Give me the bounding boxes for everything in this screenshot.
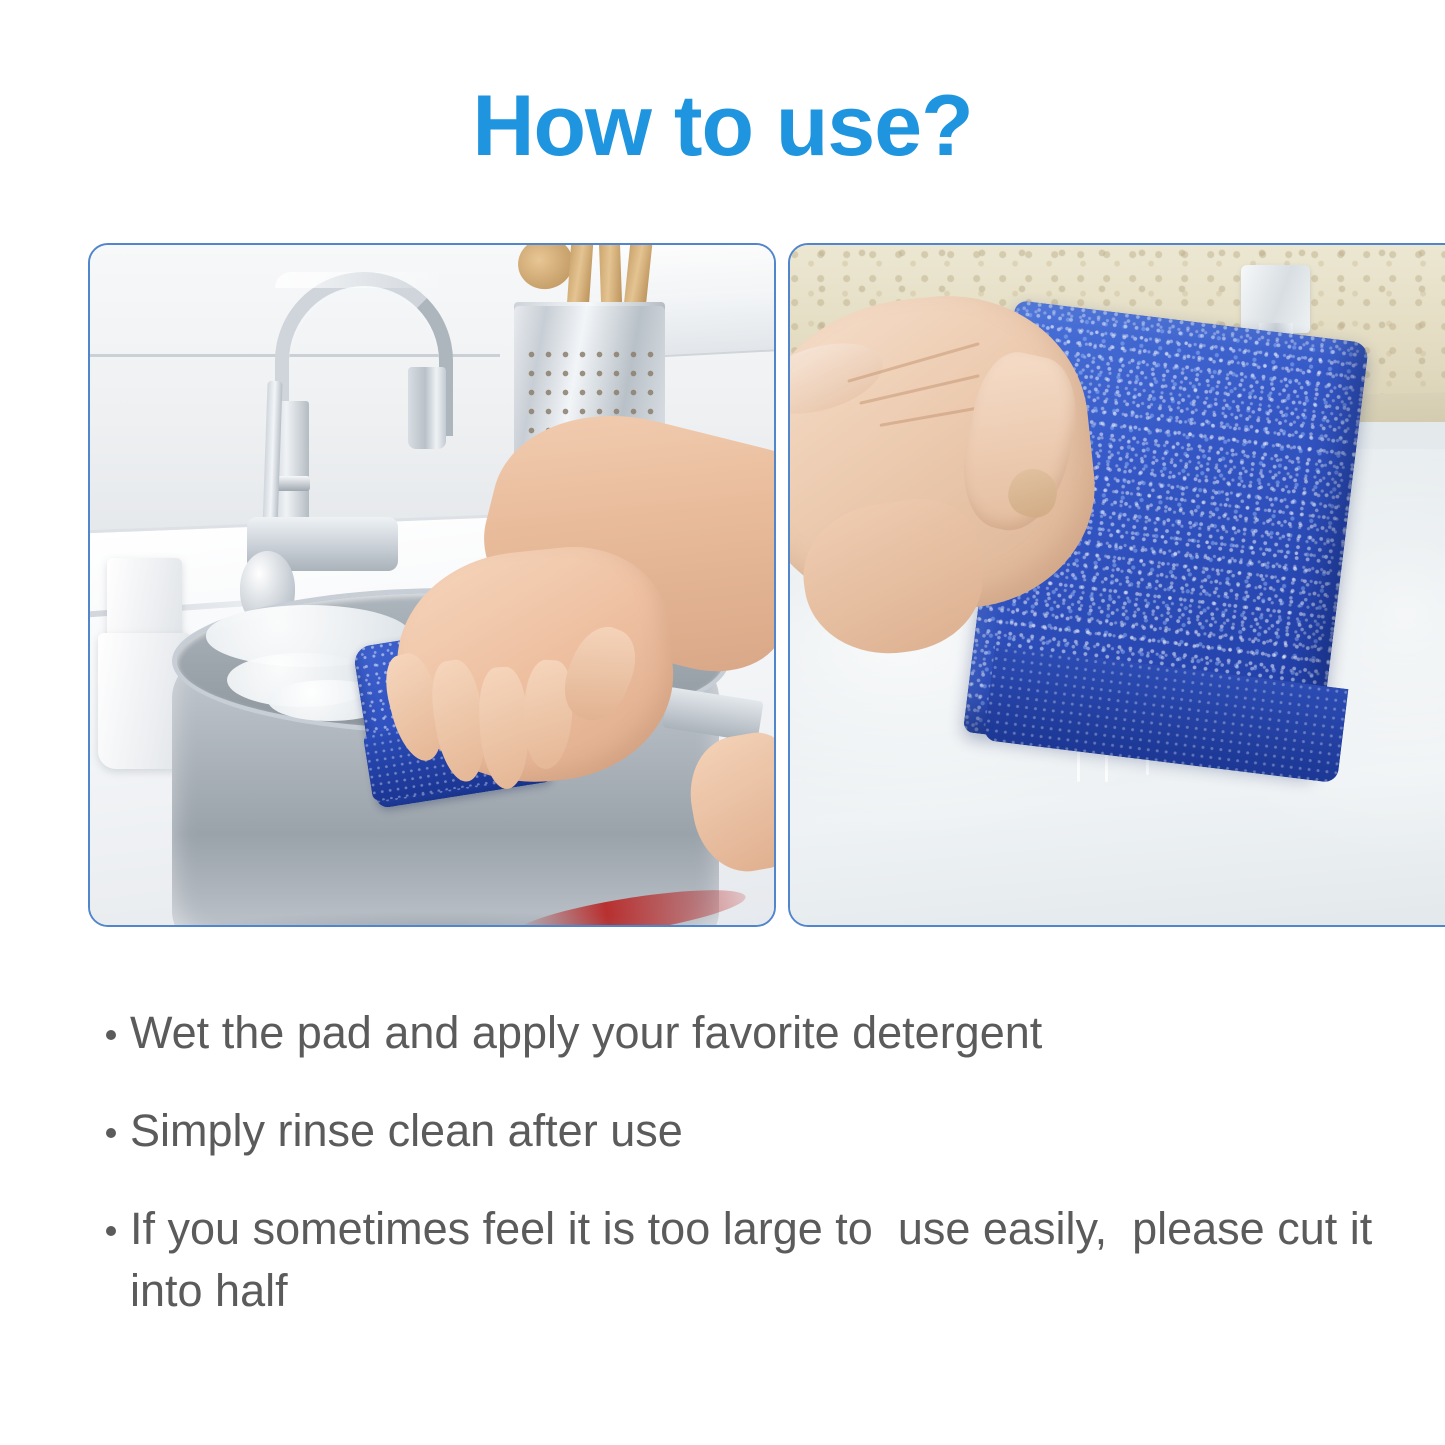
list-item: If you sometimes feel it is too large to… (106, 1198, 1406, 1322)
list-item: Simply rinse clean after use (106, 1100, 1406, 1162)
rinse-pad-scene (790, 245, 1445, 925)
bullet-dot-icon (106, 1128, 116, 1138)
wash-pot-scene (90, 245, 774, 925)
photo-panel-wash-pot (88, 243, 776, 927)
faucet-spout (408, 367, 446, 449)
knuckles (790, 330, 890, 426)
instruction-text: Wet the pad and apply your favorite dete… (130, 1002, 1406, 1064)
photo-panel-group (88, 243, 1360, 923)
instruction-list: Wet the pad and apply your favorite dete… (106, 1002, 1406, 1322)
instruction-text: Simply rinse clean after use (130, 1100, 1406, 1162)
bullet-dot-icon (106, 1030, 116, 1040)
pot-shadow (199, 911, 678, 925)
list-item: Wet the pad and apply your favorite dete… (106, 1002, 1406, 1064)
page-title: How to use? (0, 78, 1445, 174)
bullet-dot-icon (106, 1226, 116, 1236)
photo-panel-rinse-pad (788, 243, 1445, 927)
instruction-text: If you sometimes feel it is too large to… (130, 1198, 1406, 1322)
